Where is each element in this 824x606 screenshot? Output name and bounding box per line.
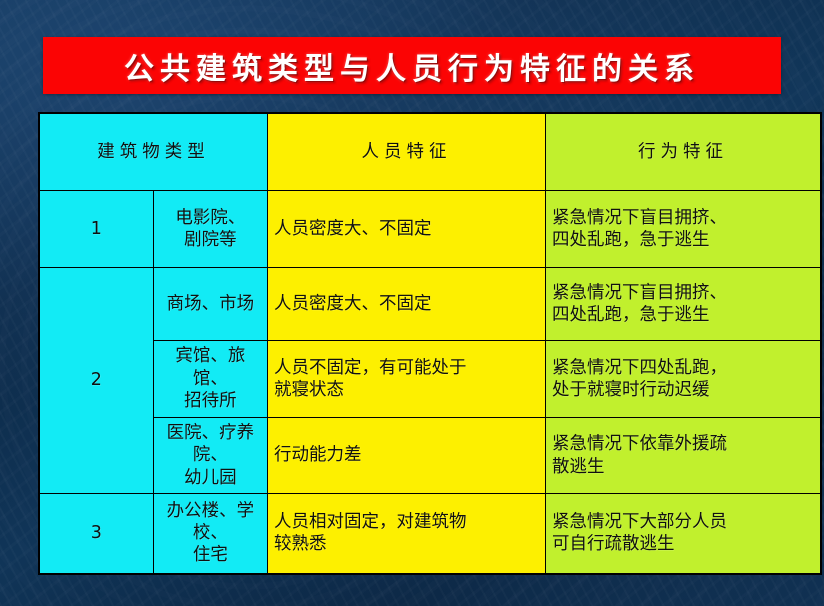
cell-line: 幼儿园: [160, 467, 261, 489]
cell-people-feature: 人员密度大、不固定: [268, 191, 546, 268]
cell-line: 紧急情况下盲目拥挤、: [552, 207, 814, 229]
cell-line: 紧急情况下盲目拥挤、: [552, 282, 814, 304]
table-row: 3 办公楼、学校、 住宅 人员相对固定，对建筑物 较熟悉 紧急情况下大部分人员 …: [39, 494, 821, 574]
cell-line: 招待所: [160, 390, 261, 412]
cell-line: 四处乱跑，急于逃生: [552, 229, 814, 251]
header-building-type: 建筑物类型: [39, 113, 268, 191]
cell-people-feature: 人员密度大、不固定: [268, 268, 546, 341]
table-row: 宾馆、旅馆、 招待所 人员不固定，有可能处于 就寝状态 紧急情况下四处乱跑， 处…: [39, 341, 821, 418]
cell-line: 剧院等: [160, 229, 261, 251]
cell-line: 电影院、: [160, 207, 261, 229]
cell-behavior-feature: 紧急情况下依靠外援疏 散逃生: [546, 418, 822, 494]
table-header-row: 建筑物类型 人员特征 行为特征: [39, 113, 821, 191]
cell-line: 办公楼、学校、: [160, 500, 261, 545]
row-index: 3: [39, 494, 153, 574]
cell-behavior-feature: 紧急情况下大部分人员 可自行疏散逃生: [546, 494, 822, 574]
cell-people-feature: 人员不固定，有可能处于 就寝状态: [268, 341, 546, 418]
row-index: 2: [39, 268, 153, 494]
cell-line: 人员相对固定，对建筑物: [274, 511, 539, 533]
relationship-table: 建筑物类型 人员特征 行为特征 1 电影院、 剧院等 人员密度大、不固定 紧急: [38, 112, 782, 568]
cell-line: 人员密度大、不固定: [274, 293, 539, 315]
table-row: 1 电影院、 剧院等 人员密度大、不固定 紧急情况下盲目拥挤、 四处乱跑，急于逃…: [39, 191, 821, 268]
table-body: 建筑物类型 人员特征 行为特征 1 电影院、 剧院等 人员密度大、不固定 紧急: [39, 113, 821, 574]
cell-building-type: 商场、市场: [153, 268, 267, 341]
row-index: 1: [39, 191, 153, 268]
cell-building-type: 电影院、 剧院等: [153, 191, 267, 268]
cell-line: 紧急情况下大部分人员: [552, 511, 814, 533]
cell-line: 人员密度大、不固定: [274, 218, 539, 240]
page-title: 公共建筑类型与人员行为特征的关系: [124, 44, 700, 88]
slide-canvas: 公共建筑类型与人员行为特征的关系 建筑物类型 人员特征 行为特征 1 电影院、 …: [0, 0, 824, 606]
header-people-feature: 人员特征: [268, 113, 546, 191]
cell-line: 医院、疗养院、: [160, 422, 261, 467]
cell-line: 人员不固定，有可能处于: [274, 357, 539, 379]
title-banner: 公共建筑类型与人员行为特征的关系: [43, 37, 781, 94]
cell-line: 可自行疏散逃生: [552, 533, 814, 555]
table-matrix: 建筑物类型 人员特征 行为特征 1 电影院、 剧院等 人员密度大、不固定 紧急: [38, 112, 822, 575]
cell-behavior-feature: 紧急情况下四处乱跑， 处于就寝时行动迟缓: [546, 341, 822, 418]
cell-line: 就寝状态: [274, 379, 539, 401]
cell-building-type: 宾馆、旅馆、 招待所: [153, 341, 267, 418]
header-behavior-feature: 行为特征: [546, 113, 822, 191]
table-row: 2 商场、市场 人员密度大、不固定 紧急情况下盲目拥挤、 四处乱跑，急于逃生: [39, 268, 821, 341]
cell-line: 四处乱跑，急于逃生: [552, 304, 814, 326]
cell-line: 较熟悉: [274, 533, 539, 555]
cell-people-feature: 人员相对固定，对建筑物 较熟悉: [268, 494, 546, 574]
table-row: 医院、疗养院、 幼儿园 行动能力差 紧急情况下依靠外援疏 散逃生: [39, 418, 821, 494]
cell-line: 宾馆、旅馆、: [160, 345, 261, 390]
cell-line: 紧急情况下依靠外援疏: [552, 433, 814, 455]
cell-building-type: 办公楼、学校、 住宅: [153, 494, 267, 574]
cell-behavior-feature: 紧急情况下盲目拥挤、 四处乱跑，急于逃生: [546, 268, 822, 341]
cell-building-type: 医院、疗养院、 幼儿园: [153, 418, 267, 494]
cell-behavior-feature: 紧急情况下盲目拥挤、 四处乱跑，急于逃生: [546, 191, 822, 268]
cell-people-feature: 行动能力差: [268, 418, 546, 494]
cell-line: 紧急情况下四处乱跑，: [552, 357, 814, 379]
cell-line: 住宅: [160, 544, 261, 566]
cell-line: 处于就寝时行动迟缓: [552, 379, 814, 401]
cell-line: 散逃生: [552, 456, 814, 478]
cell-line: 商场、市场: [160, 293, 261, 315]
cell-line: 行动能力差: [274, 444, 539, 466]
